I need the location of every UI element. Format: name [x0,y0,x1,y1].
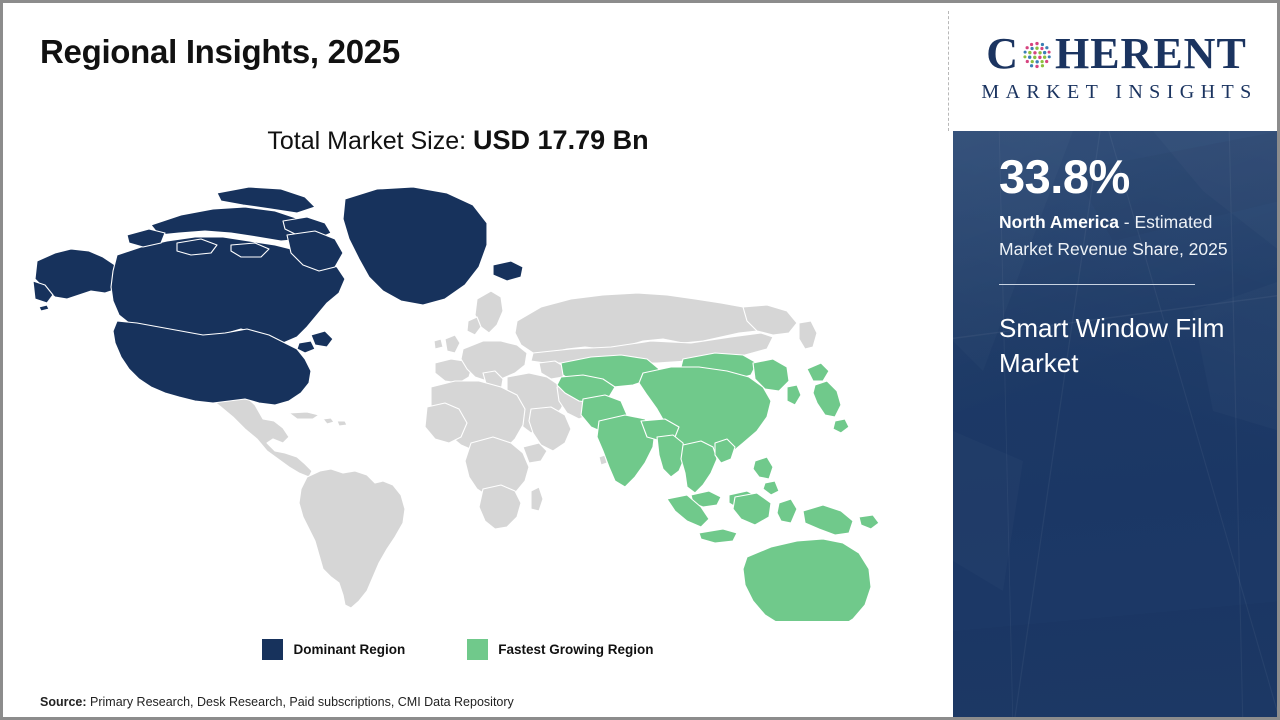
navy-square-icon [262,639,283,660]
logo-wordmark: C [986,31,1247,77]
panel-content: 33.8% North America - Estimated Market R… [999,153,1260,380]
logo-word-left: C [986,32,1019,76]
source-text: Primary Research, Desk Research, Paid su… [87,695,514,709]
world-map-svg [31,181,911,621]
dotted-globe-icon [1020,38,1054,72]
share-description: North America - Estimated Market Revenue… [999,209,1249,262]
map-legend: Dominant Region Fastest Growing Region [3,639,913,660]
panel-divider-rule [999,284,1195,285]
page-title: Regional Insights, 2025 [40,33,400,71]
total-market-size: Total Market Size: USD 17.79 Bn [3,125,913,156]
legend-label-growing: Fastest Growing Region [498,642,653,657]
world-map [31,181,911,621]
share-value: 33.8% [999,153,1260,201]
legend-item-growing: Fastest Growing Region [467,639,653,660]
share-region-name: North America [999,212,1119,232]
logo-word-right: HERENT [1055,32,1247,76]
map-region-growing [557,353,911,621]
source-note: Source: Primary Research, Desk Research,… [40,695,514,709]
legend-label-dominant: Dominant Region [293,642,405,657]
left-content-pane: Regional Insights, 2025 Total Market Siz… [3,3,948,717]
total-market-size-label: Total Market Size: [267,127,473,155]
logo-subtitle: MARKET INSIGHTS [975,81,1257,104]
total-market-size-value: USD 17.79 Bn [473,125,649,155]
company-logo: C [953,3,1280,131]
highlight-panel: 33.8% North America - Estimated Market R… [953,131,1280,717]
green-square-icon [467,639,488,660]
market-name: Smart Window Film Market [999,311,1244,380]
infographic-canvas: Regional Insights, 2025 Total Market Siz… [0,0,1280,720]
vertical-divider [948,11,949,131]
source-label: Source: [40,695,87,709]
legend-item-dominant: Dominant Region [262,639,405,660]
